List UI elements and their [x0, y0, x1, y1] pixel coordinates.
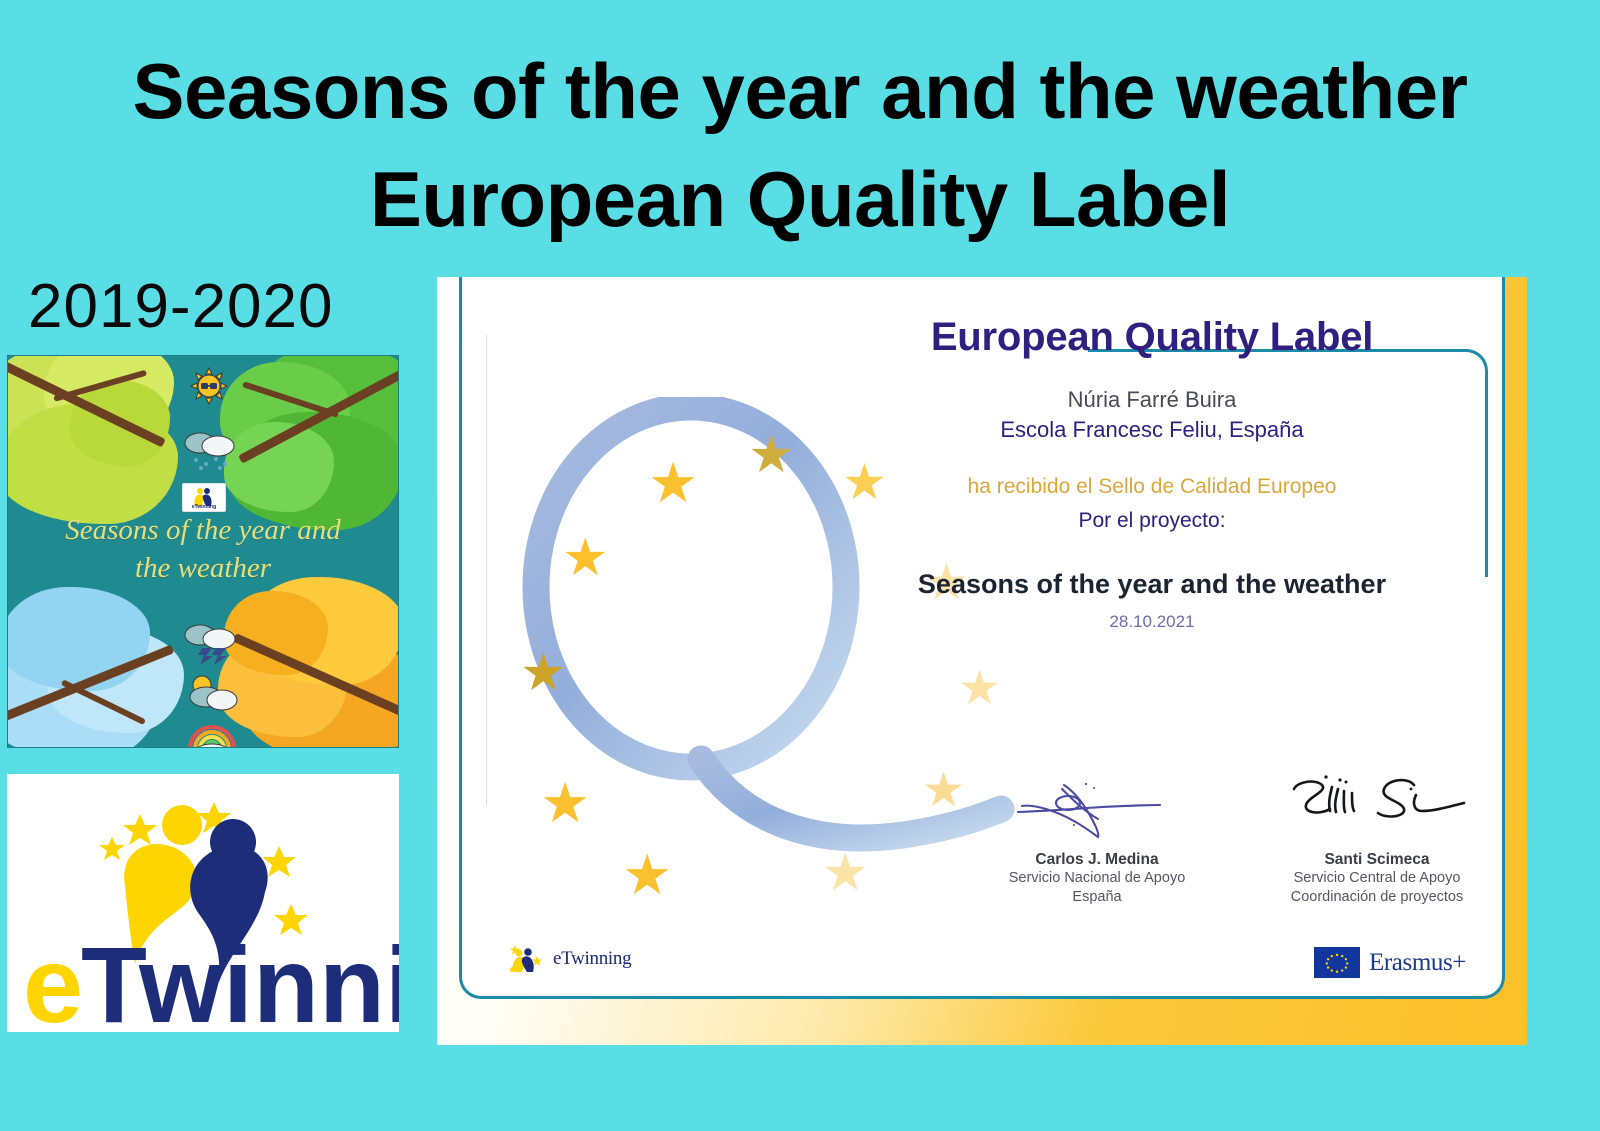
certificate-left-guideline: [486, 335, 487, 805]
certificate[interactable]: ★ ★ ★ ★ ★ ★ ★ ★ ★ ★ ★ European Quality L…: [437, 277, 1527, 1045]
certificate-rule-gap-mask: [1481, 577, 1491, 663]
signature-role-line-2: Coordinación de proyectos: [1262, 888, 1492, 907]
eu-flag-icon: [1314, 947, 1360, 978]
year-label: 2019-2020: [28, 276, 334, 338]
certificate-heading: European Quality Label: [842, 315, 1462, 359]
certificate-footer-etwinning: eTwinning: [506, 944, 631, 974]
decor-star: ★: [748, 429, 795, 481]
page-title-line-1: Seasons of the year and the weather: [0, 38, 1600, 146]
certificate-footer-erasmus-label: Erasmus+: [1369, 949, 1466, 977]
signature-name: Santi Scimeca: [1262, 851, 1492, 869]
signature-role-line-1: Servicio Central de Apoyo: [1262, 869, 1492, 888]
certificate-text-block: European Quality Label Núria Farré Buira…: [842, 315, 1462, 632]
etwinning-logo-card[interactable]: e Twinning: [7, 774, 399, 1032]
poster-etwinning-badge: eTwinning: [182, 483, 226, 512]
etwinning-wordmark-e: e: [23, 924, 83, 1032]
decor-star: ★: [958, 665, 1001, 713]
decor-star: ★: [540, 775, 590, 831]
poster-cloud-lightning-icon: [180, 621, 240, 665]
poster-sun-sunglasses-icon: [183, 366, 235, 406]
signature-name: Carlos J. Medina: [982, 851, 1212, 869]
signature-block: Carlos J. Medina Servicio Nacional de Ap…: [982, 767, 1212, 906]
certificate-footer-erasmus: Erasmus+: [1314, 947, 1466, 978]
etwinning-figure-yellow-head: [162, 805, 202, 845]
decor-star: ★: [622, 847, 672, 903]
certificate-project-title: Seasons of the year and the weather: [842, 568, 1462, 600]
project-poster-thumbnail[interactable]: eTwinning Seasons of the year and the we…: [7, 355, 399, 748]
decor-star: ★: [648, 455, 698, 511]
etwinning-logo: e Twinning: [7, 774, 399, 1032]
certificate-date: 28.10.2021: [842, 612, 1462, 632]
poster-etwinning-badge-label: eTwinning: [192, 504, 216, 510]
etwinning-small-icon: [506, 944, 546, 974]
certificate-recipient-name: Núria Farré Buira: [842, 385, 1462, 415]
signature-santi-scimeca-icon: [1262, 767, 1492, 841]
certificate-paper: ★ ★ ★ ★ ★ ★ ★ ★ ★ ★ ★ European Quality L…: [459, 277, 1505, 999]
decor-star: ★: [822, 847, 869, 899]
decor-star: ★: [922, 767, 965, 815]
decor-star: ★: [562, 532, 609, 584]
certificate-footer-etwinning-label: eTwinning: [553, 948, 631, 970]
certificate-awarded-text: ha recibido el Sello de Calidad Europeo: [842, 473, 1462, 501]
page-title: Seasons of the year and the weather Euro…: [0, 38, 1600, 253]
signature-carlos-medina-icon: [982, 767, 1212, 841]
poster-leaf-winter-3: [7, 587, 150, 691]
signature-role-line-1: Servicio Nacional de Apoyo: [982, 869, 1212, 888]
poster-sun-cloud-icon: [180, 671, 240, 715]
signature-block: Santi Scimeca Servicio Central de Apoyo …: [1262, 767, 1492, 906]
etwinning-wordmark-rest: Twinning: [81, 924, 399, 1032]
page-title-line-2: European Quality Label: [0, 146, 1600, 254]
poster-rainbow-cloud-icon: [184, 711, 238, 748]
certificate-recipient-school: Escola Francesc Feliu, España: [842, 415, 1462, 445]
certificate-signatures: Carlos J. Medina Servicio Nacional de Ap…: [982, 767, 1492, 906]
certificate-for-project-label: Por el proyecto:: [842, 507, 1462, 535]
poster-caption: Seasons of the year and the weather: [8, 511, 398, 588]
signature-role-line-2: España: [982, 888, 1212, 907]
poster-caption-line-1: Seasons of the year and: [20, 511, 386, 549]
poster-cloud-snow-icon: [180, 428, 240, 472]
poster-caption-line-2: the weather: [20, 549, 386, 587]
decor-star: ★: [520, 647, 567, 699]
